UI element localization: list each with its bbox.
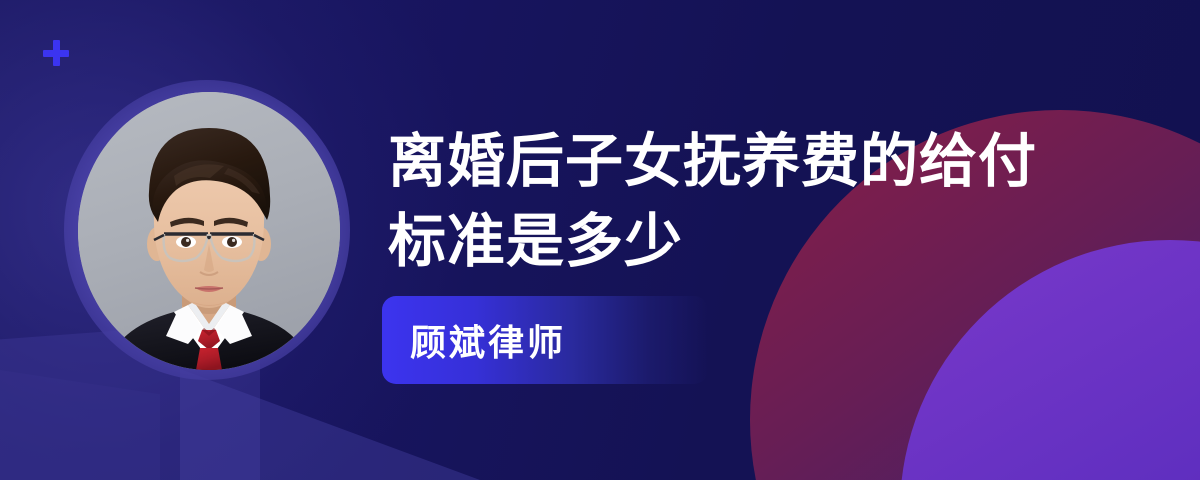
lawyer-name-badge[interactable]: 顾斌律师 <box>382 296 708 384</box>
page-title: 离婚后子女抚养费的给付 标准是多少 <box>388 122 1088 282</box>
avatar <box>78 92 340 370</box>
avatar-portrait-illustration <box>78 92 340 370</box>
lawyer-promo-banner: 离婚后子女抚养费的给付 标准是多少 顾斌律师 <box>0 0 1200 480</box>
plus-icon <box>43 40 69 66</box>
lawyer-name-label: 顾斌律师 <box>410 314 566 366</box>
